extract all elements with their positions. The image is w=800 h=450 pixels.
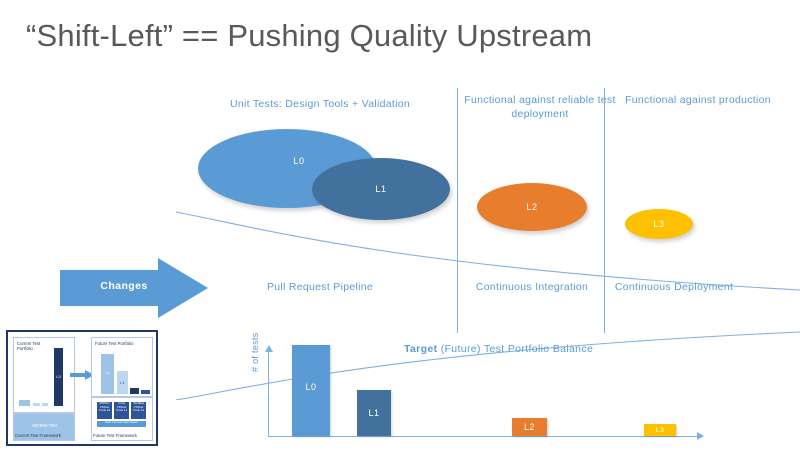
thumbnail-current-bar-l2	[42, 403, 48, 406]
chart-bar-l0-label: L0	[305, 382, 316, 392]
thumbnail-mini-footer: New unit test automation	[97, 421, 146, 427]
chart-bar-l3[interactable]: L3	[644, 424, 676, 436]
chart-bar-l1-label: L1	[368, 408, 379, 418]
page-title: “Shift-Left” == Pushing Quality Upstream	[26, 18, 592, 54]
thumbnail-current-framework-name: MSTest TRA	[14, 423, 76, 428]
stage-label-pull-request-pipeline: Pull Request Pipeline	[228, 280, 412, 294]
thumbnail-inset-image[interactable]: Current Test Portfolio L3 MSTest TRA Cur…	[6, 330, 158, 446]
chart-x-axis-arrow-icon	[697, 432, 704, 440]
thumbnail-future-bar-l1-label: L1	[117, 380, 128, 385]
chart-bar-l2-label: L2	[524, 422, 535, 432]
thumbnail-current-framework-caption: Current Test Framework	[15, 433, 75, 438]
bubble-l3-label: L3	[653, 219, 664, 229]
thumbnail-mini-box-2: TestBed VSTest Tools L2	[131, 402, 146, 419]
column-header-unit-tests: Unit Tests: Design Tools + Validation	[185, 97, 455, 111]
column-header-functional-production: Functional against production	[620, 93, 776, 107]
bubble-l3[interactable]: L3	[625, 209, 693, 239]
chart-bar-l3-label: L3	[656, 427, 665, 434]
chart-y-axis-arrow-icon	[265, 345, 273, 352]
chart-title: Target (Future) Test Portfolio Balance	[404, 343, 593, 355]
bubble-l2-label: L2	[526, 202, 537, 212]
stage-label-continuous-deployment: Continuous Deployment	[604, 280, 744, 294]
chart-y-axis-label: # of tests	[250, 332, 260, 372]
thumbnail-mini-box-1: xUnit VSTest Tools L1	[114, 402, 129, 419]
thumbnail-future-portfolio-title: Future Test Portfolio	[95, 341, 135, 346]
thumbnail-future-bar-l3	[141, 390, 150, 394]
bubble-l2[interactable]: L2	[477, 183, 587, 231]
stage-label-continuous-integration: Continuous Integration	[462, 280, 602, 294]
chart-x-axis	[268, 436, 698, 437]
thumbnail-current-bar-l0	[19, 400, 30, 406]
thumbnail-future-bar-l0-label: L0	[101, 370, 114, 375]
bubble-l1[interactable]: L1	[312, 158, 450, 220]
chart-bar-l1[interactable]: L1	[357, 390, 391, 436]
bubble-l1-label: L1	[375, 184, 386, 194]
thumbnail-current-portfolio-title: Current Test Portfolio	[17, 341, 57, 352]
thumbnail-mini-box-0: MSTest VSTest Tools L0	[97, 402, 112, 419]
thumbnail-current-bar-l1	[33, 403, 40, 406]
thumbnail-future-portfolio-panel: Future Test Portfolio L0 L1	[91, 337, 153, 397]
chart-bar-l2[interactable]: L2	[512, 418, 547, 436]
chart-bar-l0[interactable]: L0	[292, 345, 330, 436]
thumbnail-future-framework-caption: Future Test Framework	[93, 433, 155, 438]
chart-title-bold: Target	[404, 343, 437, 355]
slide-canvas: “Shift-Left” == Pushing Quality Upstream…	[0, 0, 800, 450]
chart-title-rest: (Future) Test Portfolio Balance	[437, 343, 593, 355]
thumbnail-current-portfolio-panel: Current Test Portfolio L3	[13, 337, 75, 413]
bubble-l0-label: L0	[293, 156, 304, 166]
thumbnail-current-bar-l3-label: L3	[54, 374, 63, 379]
thumbnail-future-bar-l2	[130, 388, 139, 394]
column-header-functional-reliable: Functional against reliable test deploym…	[462, 93, 618, 121]
changes-arrow-label: Changes	[78, 280, 170, 292]
chart-y-axis	[268, 350, 269, 437]
